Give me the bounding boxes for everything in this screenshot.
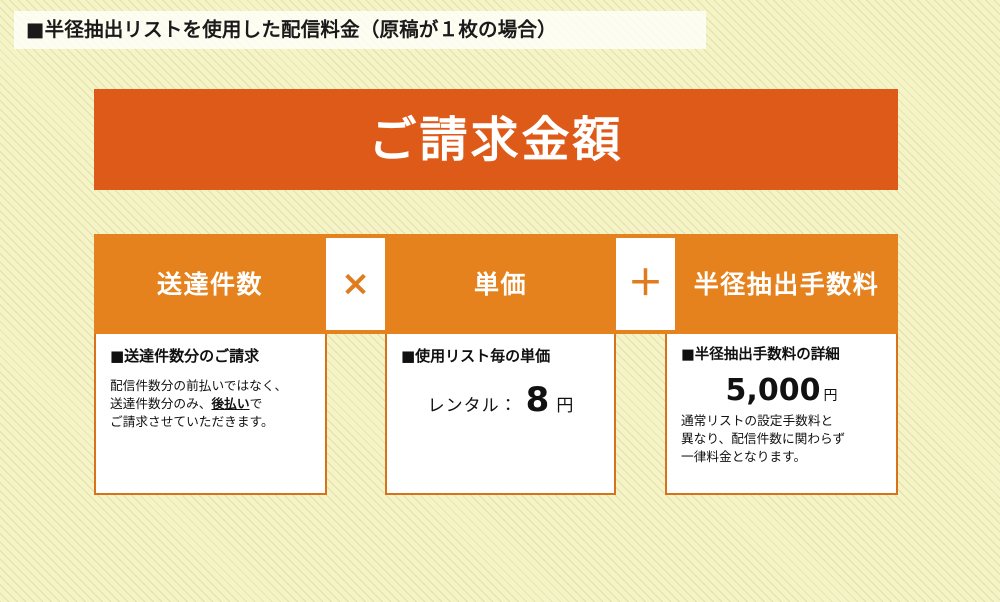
formula-header-row: 送達件数 × 単価 ＋ 半径抽出手数料	[94, 234, 898, 334]
detail-body-radius-fee: 通常リストの設定手数料と 異なり、配信件数に関わらず 一律料金となります。	[681, 412, 882, 465]
body-line-3: で	[250, 396, 263, 411]
column-header-radius-fee: 半径抽出手数料	[675, 234, 898, 334]
body-emphasis-postpay: 後払い	[212, 396, 250, 411]
body-line-2: 送達件数分のみ、	[110, 396, 212, 411]
detail-title-delivery-count: ■送達件数分のご請求	[110, 348, 311, 365]
radius-fee-currency: 円	[823, 385, 837, 405]
plus-icon: ＋	[628, 267, 663, 302]
body-line-4: ご請求させていただきます。	[110, 414, 274, 429]
detail-title-unit-price: ■使用リスト毎の単価	[401, 348, 600, 365]
unit-price-currency: 円	[556, 391, 573, 416]
radius-fee-value: 5,000	[726, 376, 821, 406]
operator-plus: ＋	[616, 238, 675, 330]
billing-amount-banner: ご請求金額	[94, 89, 898, 190]
operator-multiply: ×	[326, 238, 385, 330]
body-line-3: 一律料金となります。	[681, 449, 806, 464]
body-line-2: 異なり、配信件数に関わらず	[681, 431, 845, 446]
unit-price-value: 8	[526, 383, 550, 417]
unit-price-label: レンタル：	[428, 391, 518, 416]
column-header-unit-price: 単価	[385, 234, 616, 334]
detail-box-delivery-count: ■送達件数分のご請求 配信件数分の前払いではなく、 送達件数分のみ、後払いで ご…	[94, 334, 327, 495]
multiply-icon: ×	[341, 267, 370, 302]
unit-price-row: レンタル： 8 円	[401, 383, 600, 417]
body-line-1: 通常リストの設定手数料と	[681, 413, 833, 428]
body-line-1: 配信件数分の前払いではなく、	[110, 378, 287, 393]
billing-amount-label: ご請求金額	[368, 116, 623, 164]
detail-body-delivery-count: 配信件数分の前払いではなく、 送達件数分のみ、後払いで ご請求させていただきます…	[110, 377, 311, 432]
radius-fee-row: 5,000 円	[681, 376, 882, 406]
detail-box-unit-price: ■使用リスト毎の単価 レンタル： 8 円	[385, 334, 616, 495]
page-title-banner: ■半径抽出リストを使用した配信料金（原稿が１枚の場合）	[14, 11, 706, 49]
detail-title-radius-fee: ■半径抽出手数料の詳細	[681, 348, 882, 364]
page-title: ■半径抽出リストを使用した配信料金（原稿が１枚の場合）	[14, 20, 557, 40]
pricing-diagram: ■半径抽出リストを使用した配信料金（原稿が１枚の場合） ご請求金額 送達件数 ×…	[0, 0, 1000, 602]
detail-box-radius-fee: ■半径抽出手数料の詳細 5,000 円 通常リストの設定手数料と 異なり、配信件…	[665, 334, 898, 495]
column-header-delivery-count: 送達件数	[94, 234, 326, 334]
